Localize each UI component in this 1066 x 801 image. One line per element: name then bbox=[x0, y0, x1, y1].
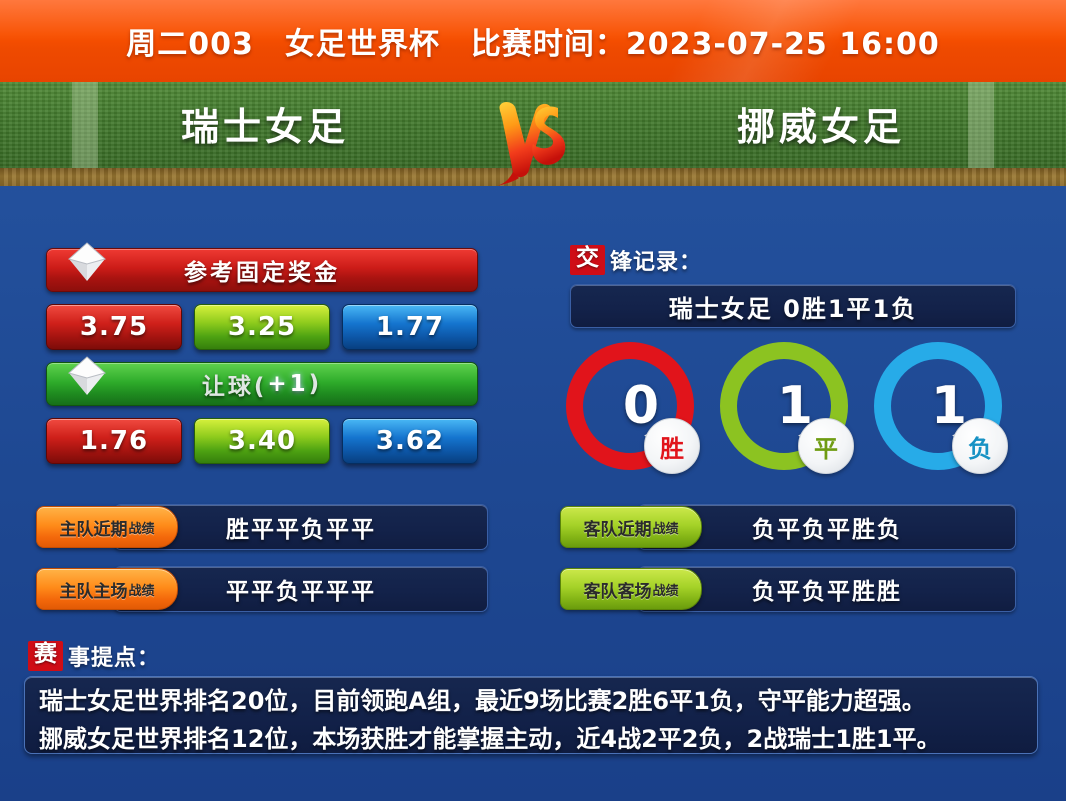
ring-badge-win: 胜 bbox=[644, 418, 700, 474]
home-venue-tab-main: 主队主场 bbox=[59, 577, 127, 602]
analysis-box: 瑞士女足世界排名20位，目前领跑A组，最近9场比赛2胜6平1负，守平能力超强。 … bbox=[24, 676, 1038, 754]
home-recent-tab-sub: 战绩 bbox=[128, 518, 154, 537]
fixed-odds-banner: 参考固定奖金 bbox=[46, 248, 478, 292]
fixed-odds-row: 3.75 3.25 1.77 bbox=[46, 304, 478, 350]
handicap-title-prefix: 让球( bbox=[202, 367, 268, 401]
fixed-odd-home[interactable]: 3.75 bbox=[46, 304, 182, 350]
h2h-panel: 交 锋记录： 瑞士女足 0胜1平1负 bbox=[570, 244, 1016, 328]
h2h-rings: 0 胜 1 平 1 负 bbox=[566, 342, 1002, 470]
away-venue-form-tab: 客队客场 战绩 bbox=[560, 568, 702, 610]
pitch-line-left bbox=[72, 82, 98, 168]
handicap-banner: 让球( +1 ) bbox=[46, 362, 478, 406]
home-recent-tab-main: 主队近期 bbox=[59, 515, 127, 540]
home-team-name: 瑞士女足 bbox=[120, 96, 410, 151]
away-venue-tab-main: 客队客场 bbox=[583, 577, 651, 602]
away-recent-tab-sub: 战绩 bbox=[652, 518, 678, 537]
h2h-ring-draw: 1 平 bbox=[720, 342, 848, 470]
diamond-gem-icon bbox=[65, 354, 109, 398]
home-venue-form-tab: 主队主场 战绩 bbox=[36, 568, 178, 610]
h2h-label: 交 锋记录： bbox=[570, 244, 1016, 276]
away-venue-form-value: 负平负平胜胜 bbox=[752, 572, 902, 606]
header-title: 周二003 女足世界杯 比赛时间：2023-07-25 16:00 bbox=[0, 0, 1066, 82]
analysis-line-1: 瑞士女足世界排名20位，目前领跑A组，最近9场比赛2胜6平1负，守平能力超强。 bbox=[39, 682, 1023, 720]
odds-panel: 参考固定奖金 3.75 3.25 1.77 让球( +1 ) 1.76 3.40 bbox=[46, 248, 478, 464]
handicap-title-suffix: ) bbox=[309, 371, 323, 397]
h2h-ring-win: 0 胜 bbox=[566, 342, 694, 470]
home-venue-form-value: 平平负平平平 bbox=[226, 572, 376, 606]
away-team-name: 挪威女足 bbox=[676, 96, 966, 151]
away-recent-tab-main: 客队近期 bbox=[583, 515, 651, 540]
handicap-odd-home[interactable]: 1.76 bbox=[46, 418, 182, 464]
handicap-odd-away[interactable]: 3.62 bbox=[342, 418, 478, 464]
analysis-label-rest: 事提点： bbox=[68, 640, 160, 672]
diamond-gem-icon bbox=[65, 240, 109, 284]
home-form-block: 主队近期 战绩 胜平平负平平 主队主场 战绩 平平负平平平 bbox=[36, 504, 488, 610]
header-bar: 周二003 女足世界杯 比赛时间：2023-07-25 16:00 bbox=[0, 0, 1066, 82]
home-venue-form-row: 主队主场 战绩 平平负平平平 bbox=[36, 566, 488, 610]
handicap-value: +1 bbox=[267, 371, 308, 397]
fixed-odd-draw[interactable]: 3.25 bbox=[194, 304, 330, 350]
analysis-label: 赛 事提点： bbox=[28, 640, 160, 672]
away-venue-tab-sub: 战绩 bbox=[652, 580, 678, 599]
handicap-odd-draw[interactable]: 3.40 bbox=[194, 418, 330, 464]
handicap-odds-row: 1.76 3.40 3.62 bbox=[46, 418, 478, 464]
away-recent-form-value: 负平负平胜负 bbox=[752, 510, 902, 544]
h2h-label-glyph: 交 bbox=[570, 245, 605, 274]
home-venue-tab-sub: 战绩 bbox=[128, 580, 154, 599]
analysis-line-2: 挪威女足世界排名12位，本场获胜才能掌握主动，近4战2平2负，2战瑞士1胜1平。 bbox=[39, 720, 1023, 758]
h2h-label-rest: 锋记录： bbox=[610, 244, 702, 276]
away-recent-form-row: 客队近期 战绩 负平负平胜负 bbox=[560, 504, 1016, 548]
home-recent-form-value: 胜平平负平平 bbox=[226, 510, 376, 544]
h2h-summary-text: 瑞士女足 0胜1平1负 bbox=[669, 289, 917, 324]
home-recent-form-row: 主队近期 战绩 胜平平负平平 bbox=[36, 504, 488, 548]
ring-badge-loss: 负 bbox=[952, 418, 1008, 474]
home-recent-form-tab: 主队近期 战绩 bbox=[36, 506, 178, 548]
fixed-odds-title: 参考固定奖金 bbox=[184, 253, 340, 287]
ring-badge-draw: 平 bbox=[798, 418, 854, 474]
away-venue-form-row: 客队客场 战绩 负平负平胜胜 bbox=[560, 566, 1016, 610]
away-recent-form-tab: 客队近期 战绩 bbox=[560, 506, 702, 548]
vs-icon bbox=[483, 88, 583, 188]
away-form-block: 客队近期 战绩 负平负平胜负 客队客场 战绩 负平负平胜胜 bbox=[560, 504, 1016, 610]
h2h-ring-loss: 1 负 bbox=[874, 342, 1002, 470]
pitch-line-right bbox=[968, 82, 994, 168]
analysis-label-glyph: 赛 bbox=[28, 641, 63, 670]
match-preview-card: 周二003 女足世界杯 比赛时间：2023-07-25 16:00 瑞士女足 挪… bbox=[0, 0, 1066, 801]
h2h-summary-bar: 瑞士女足 0胜1平1负 bbox=[570, 284, 1016, 328]
fixed-odd-away[interactable]: 1.77 bbox=[342, 304, 478, 350]
